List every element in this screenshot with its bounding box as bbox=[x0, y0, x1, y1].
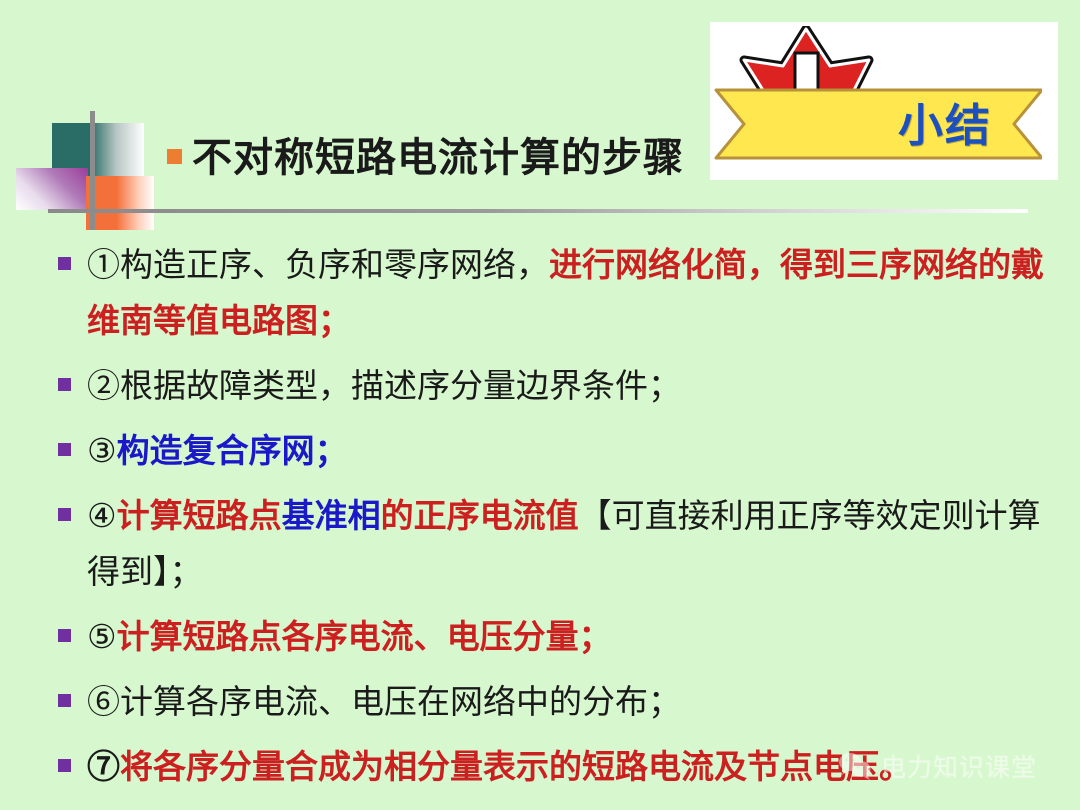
text-segment: 基准相 bbox=[282, 499, 381, 535]
text-segment: 构造复合序网； bbox=[117, 434, 348, 470]
wechat-icon bbox=[838, 751, 872, 781]
list-item-text: ④计算短路点基准相的正序电流值【可直接利用正序等效定则计算得到】； bbox=[87, 489, 1058, 601]
list-item-text: ②根据故障类型，描述序分量边界条件； bbox=[87, 359, 1058, 415]
watermark: 电力知识课堂 bbox=[838, 748, 1037, 784]
summary-badge: 小结 bbox=[710, 22, 1058, 180]
title-divider bbox=[48, 209, 1028, 213]
text-segment: ①构造正序、负序和零序网络， bbox=[87, 248, 549, 284]
text-segment: ⑦ bbox=[87, 750, 120, 786]
text-segment: 的正序电流值 bbox=[381, 499, 579, 535]
text-segment: ③ bbox=[87, 434, 117, 470]
list-item: ②根据故障类型，描述序分量边界条件； bbox=[58, 359, 1058, 415]
text-segment: ⑤ bbox=[87, 620, 117, 656]
list-item-text: ⑤计算短路点各序电流、电压分量； bbox=[87, 610, 1058, 666]
list-bullet-icon bbox=[58, 629, 71, 642]
list-item: ③构造复合序网； bbox=[58, 424, 1058, 480]
text-segment: ④ bbox=[87, 499, 117, 535]
title-bullet-icon bbox=[167, 149, 182, 164]
list-bullet-icon bbox=[58, 443, 71, 456]
list-item: ⑥计算各序电流、电压在网络中的分布； bbox=[58, 675, 1058, 731]
badge-label: 小结 bbox=[880, 98, 1010, 154]
list-bullet-icon bbox=[58, 257, 71, 270]
list-item-text: ③构造复合序网； bbox=[87, 424, 1058, 480]
list-item-text: ①构造正序、负序和零序网络，进行网络化简，得到三序网络的戴维南等值电路图； bbox=[87, 238, 1058, 350]
watermark-text: 电力知识课堂 bbox=[881, 748, 1037, 784]
list-bullet-icon bbox=[58, 378, 71, 391]
text-segment: ⑥计算各序电流、电压在网络中的分布； bbox=[87, 685, 681, 721]
list-bullet-icon bbox=[58, 759, 71, 772]
deco-purple-block bbox=[16, 168, 88, 210]
list-bullet-icon bbox=[58, 694, 71, 707]
list-item: ①构造正序、负序和零序网络，进行网络化简，得到三序网络的戴维南等值电路图； bbox=[58, 238, 1058, 350]
list-item: ⑤计算短路点各序电流、电压分量； bbox=[58, 610, 1058, 666]
list-bullet-icon bbox=[58, 508, 71, 521]
page-title: 不对称短路电流计算的步骤 bbox=[192, 125, 684, 183]
steps-list: ①构造正序、负序和零序网络，进行网络化简，得到三序网络的戴维南等值电路图；②根据… bbox=[58, 238, 1058, 805]
list-item: ④计算短路点基准相的正序电流值【可直接利用正序等效定则计算得到】； bbox=[58, 489, 1058, 601]
text-segment: 将各序分量合成为相分量表示的短路电流及节点电压。 bbox=[120, 750, 912, 786]
text-segment: ②根据故障类型，描述序分量边界条件； bbox=[87, 369, 681, 405]
deco-orange-block bbox=[86, 176, 154, 230]
text-segment: 计算短路点各序电流、电压分量； bbox=[117, 620, 612, 656]
text-segment: 计算短路点 bbox=[117, 499, 282, 535]
list-item-text: ⑥计算各序电流、电压在网络中的分布； bbox=[87, 675, 1058, 731]
